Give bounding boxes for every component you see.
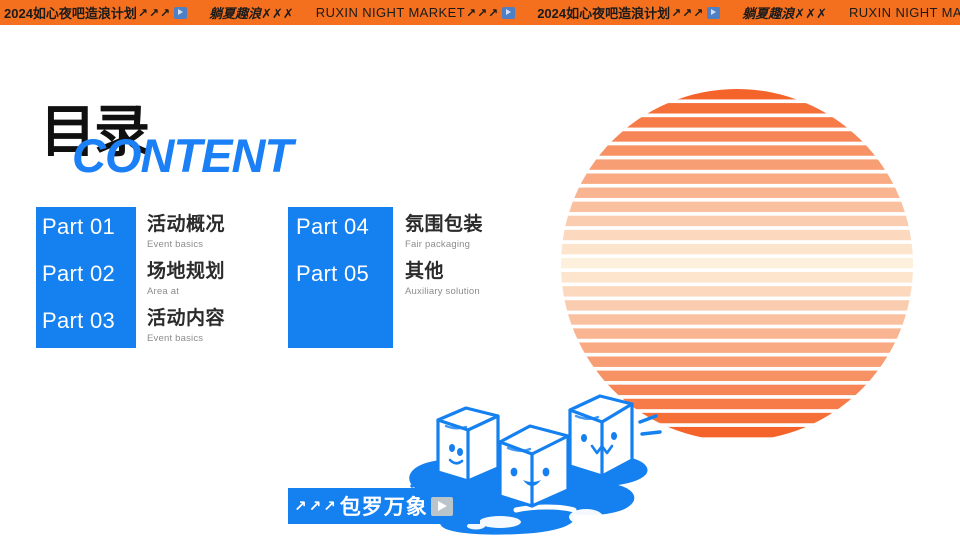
- marquee-item-market: RUXIN NIGHT MARKET ↗↗↗: [849, 5, 960, 20]
- page-title-en: CONTENT: [72, 132, 292, 179]
- play-icon: [707, 7, 720, 19]
- marquee-item-summer: 躺夏趣浪✗✗✗: [742, 3, 827, 22]
- top-marquee-banner: 2024如心夜吧造浪计划 ↗↗↗ 躺夏趣浪✗✗✗ RUXIN NIGHT MAR…: [0, 0, 960, 25]
- marquee-item-market-label: RUXIN NIGHT MARKET: [316, 5, 465, 20]
- arrow-up-right-icon: ↗↗↗: [138, 6, 171, 20]
- toc-entry-01-title-en: Event basics: [147, 239, 322, 250]
- part-label-04[interactable]: Part 04: [296, 216, 369, 238]
- marquee-item-summer-label: 躺夏趣浪✗✗✗: [742, 3, 827, 22]
- part-label-02[interactable]: Part 02: [42, 263, 115, 285]
- part-label-01[interactable]: Part 01: [42, 216, 115, 238]
- toc-entry-04[interactable]: 氛围包装 Fair packaging: [405, 215, 585, 250]
- toc-entry-03[interactable]: 活动内容 Event basics: [147, 309, 322, 344]
- toc-entry-02-title-en: Area at: [147, 286, 322, 297]
- marquee-item-plan: 2024如心夜吧造浪计划 ↗↗↗: [537, 3, 720, 22]
- marquee-item-plan: 2024如心夜吧造浪计划 ↗↗↗: [4, 3, 187, 22]
- toc-entry-05-title-en: Auxiliary solution: [405, 286, 585, 297]
- slide-root: 2024如心夜吧造浪计划 ↗↗↗ 躺夏趣浪✗✗✗ RUXIN NIGHT MAR…: [0, 0, 960, 540]
- marquee-item-market-label: RUXIN NIGHT MARKET: [849, 5, 960, 20]
- part-label-03[interactable]: Part 03: [42, 310, 115, 332]
- marquee-item-market: RUXIN NIGHT MARKET ↗↗↗: [316, 5, 515, 20]
- play-icon[interactable]: [431, 497, 453, 516]
- toc-entry-05[interactable]: 其他 Auxiliary solution: [405, 262, 585, 297]
- toc-entry-03-title-en: Event basics: [147, 333, 322, 344]
- page-title: 目录 CONTENT: [40, 104, 460, 184]
- marquee-item-plan-label: 2024如心夜吧造浪计划: [4, 3, 137, 22]
- marquee-track: 2024如心夜吧造浪计划 ↗↗↗ 躺夏趣浪✗✗✗ RUXIN NIGHT MAR…: [0, 3, 960, 22]
- arrow-up-right-icon: ↗↗↗: [466, 6, 499, 20]
- part-label-05[interactable]: Part 05: [296, 263, 369, 285]
- toc-entry-04-title-en: Fair packaging: [405, 239, 585, 250]
- toc-entry-04-title-cn: 氛围包装: [405, 215, 585, 236]
- marquee-item-summer-label: 躺夏趣浪✗✗✗: [209, 3, 294, 22]
- toc-entry-05-title-cn: 其他: [405, 262, 585, 283]
- play-icon: [502, 7, 515, 19]
- arrow-up-right-icon: ↗↗↗: [294, 497, 338, 515]
- toc-entry-03-title-cn: 活动内容: [147, 309, 322, 330]
- play-icon: [174, 7, 187, 19]
- marquee-item-plan-label: 2024如心夜吧造浪计划: [537, 3, 670, 22]
- arrow-up-right-icon: ↗↗↗: [671, 6, 704, 20]
- marquee-item-summer: 躺夏趣浪✗✗✗: [209, 3, 294, 22]
- bottom-tagline-text: 包罗万象: [340, 491, 428, 521]
- bottom-tagline-bar[interactable]: ↗↗↗ 包罗万象: [288, 488, 480, 524]
